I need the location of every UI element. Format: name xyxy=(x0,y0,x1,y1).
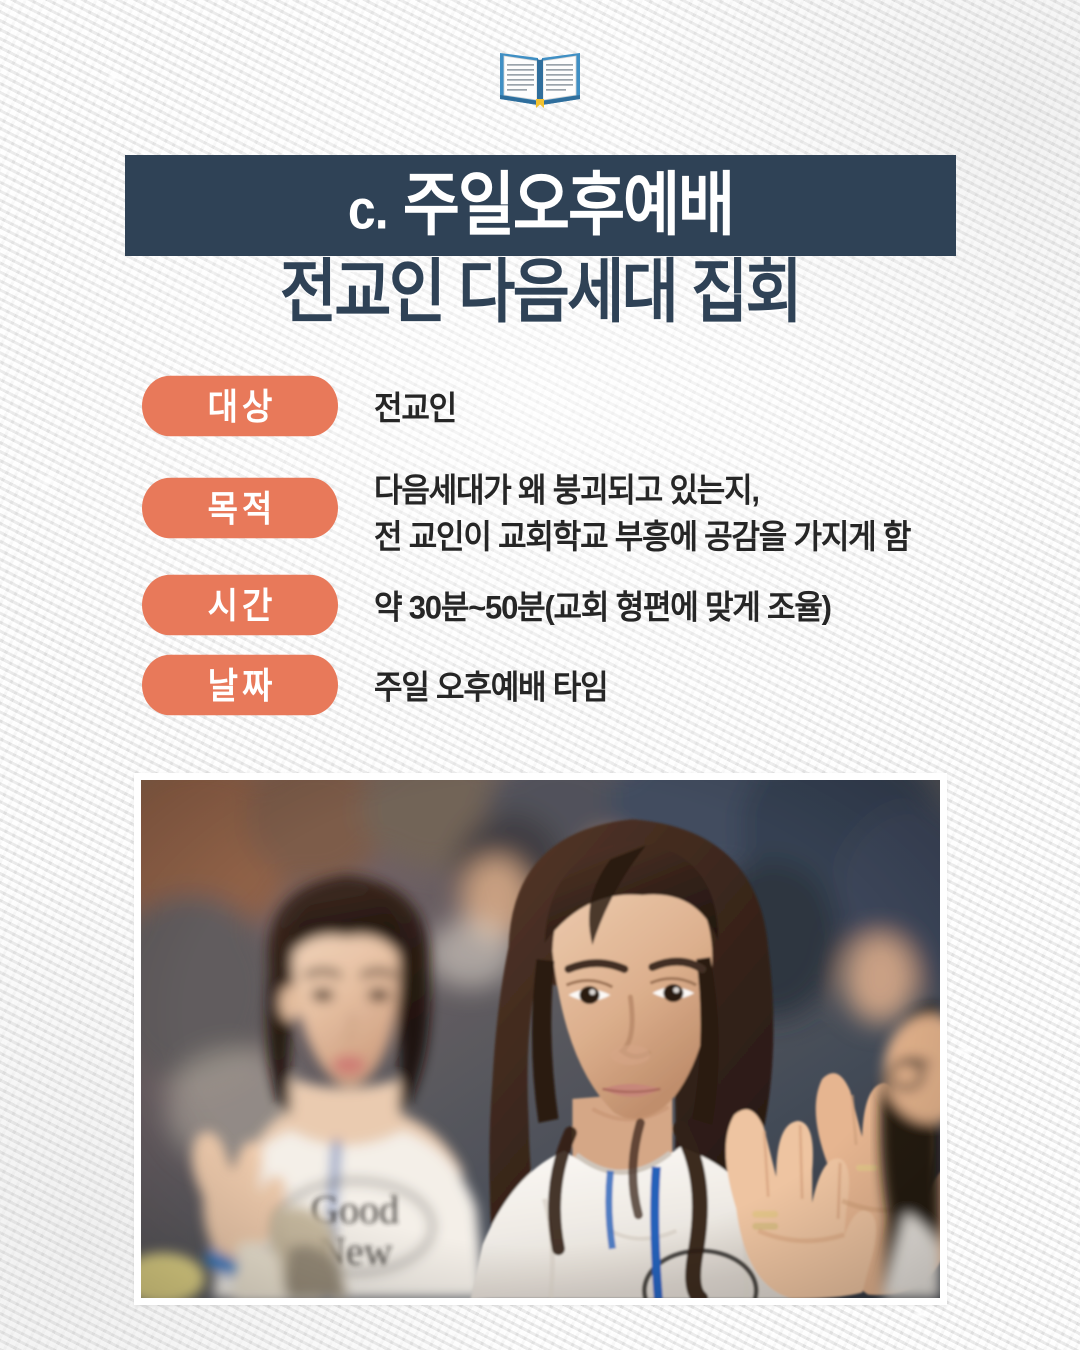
worship-photo: Good New xyxy=(141,780,940,1298)
detail-label-date: 날짜 xyxy=(142,655,338,715)
detail-list: 대상 전교인 목적 다음세대가 왜 붕괴되고 있는지, 전 교인이 교회학교 부… xyxy=(142,378,1022,739)
photo-frame: Good New xyxy=(134,773,947,1305)
poster-content: c. 주일오후예배 전교인 다음세대 집회 대상 전교인 목적 다음세대가 왜 … xyxy=(0,0,1080,1350)
detail-value-time: 약 30분~50분(교회 형편에 맞게 조율) xyxy=(374,577,1022,631)
detail-value-target: 전교인 xyxy=(374,378,1022,432)
title-text-group: c. 주일오후예배 xyxy=(348,171,733,240)
page-title: 주일오후예배 xyxy=(403,166,733,243)
detail-label-purpose: 목적 xyxy=(142,477,338,537)
detail-label-target: 대상 xyxy=(142,376,338,436)
open-book-icon xyxy=(498,47,582,109)
detail-row-target: 대상 전교인 xyxy=(142,378,1022,434)
detail-value-purpose: 다음세대가 왜 붕괴되고 있는지, 전 교인이 교회학교 부흥에 공감을 가지게… xyxy=(374,460,1022,561)
detail-label-time: 시간 xyxy=(142,575,338,635)
title-banner: c. 주일오후예배 xyxy=(125,155,956,256)
detail-row-time: 시간 약 30분~50분(교회 형편에 맞게 조율) xyxy=(142,577,1022,633)
open-book-icon-wrapper xyxy=(0,47,1080,109)
title-prefix: c. xyxy=(348,178,388,241)
detail-value-date: 주일 오후예배 타임 xyxy=(374,657,1022,711)
detail-row-purpose: 목적 다음세대가 왜 붕괴되고 있는지, 전 교인이 교회학교 부흥에 공감을 … xyxy=(142,460,1022,555)
detail-row-date: 날짜 주일 오후예배 타임 xyxy=(142,657,1022,713)
page-subtitle: 전교인 다음세대 집회 xyxy=(0,258,1080,327)
